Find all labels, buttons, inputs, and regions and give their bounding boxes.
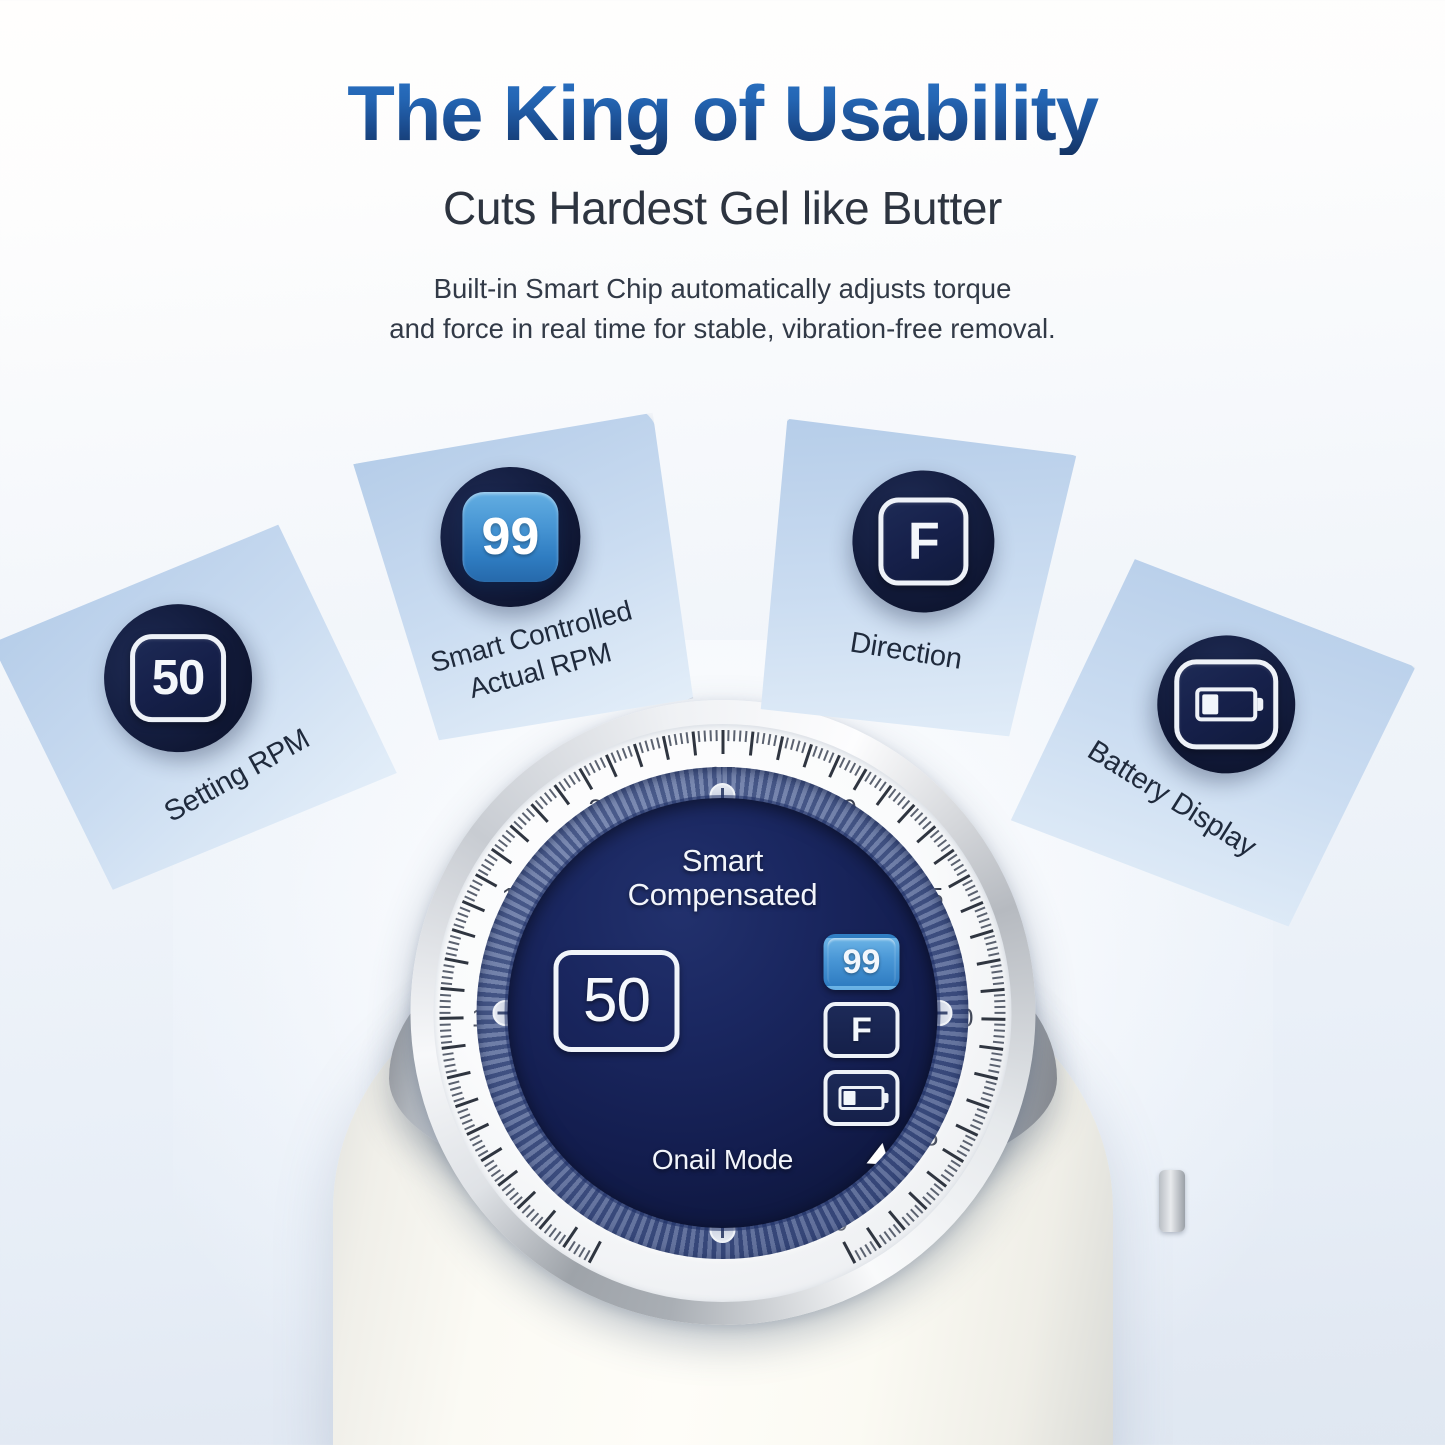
battery-fill-level — [1202, 694, 1218, 714]
dial-direction-value: F — [851, 1013, 872, 1047]
actual-rpm-badge-icon: 99 — [427, 454, 593, 620]
description-line-2: and force in real time for stable, vibra… — [0, 309, 1445, 350]
page-subheadline: Cuts Hardest Gel like Butter — [0, 181, 1445, 235]
dial-actual-rpm-value: 99 — [843, 945, 881, 979]
feature-card-label-direction: Direction — [848, 625, 965, 679]
device-side-button[interactable] — [1159, 1170, 1185, 1232]
dial-setting-rpm-value: 50 — [583, 970, 650, 1032]
description-line-1: Built-in Smart Chip automatically adjust… — [0, 269, 1445, 310]
page-headline: The King of Usability — [0, 72, 1445, 155]
direction-value-glyph: F — [908, 516, 939, 568]
rpm-value-badge: 50 — [130, 634, 226, 722]
dial-direction-badge: F — [824, 1002, 900, 1058]
actual-rpm-value-badge: 99 — [462, 492, 558, 582]
battery-icon — [1195, 687, 1257, 721]
rpm-value-glyph: 50 — [152, 654, 205, 703]
actual-rpm-value-glyph: 99 — [482, 511, 540, 563]
device-bezel: 05101520253035404550 Smart Compensated 5… — [410, 700, 1035, 1325]
dial-battery-badge — [824, 1070, 900, 1126]
direction-badge-icon: F — [842, 460, 1004, 622]
dial-status-stack: 99 F — [824, 934, 900, 1126]
device-chapter-ring: Smart Compensated 50 99 F — [477, 767, 969, 1259]
device-dial-screen[interactable]: Smart Compensated 50 99 F — [508, 798, 938, 1228]
dial-battery-icon — [839, 1086, 885, 1110]
dial-battery-fill-level — [844, 1091, 856, 1105]
dial-setting-rpm-box: 50 — [554, 950, 680, 1052]
dial-actual-rpm-badge: 99 — [824, 934, 900, 990]
dial-title: Smart Compensated — [508, 844, 938, 913]
feature-card-label-actual-rpm: Smart Controlled Actual RPM — [426, 593, 644, 715]
direction-value-badge: F — [878, 498, 968, 586]
page-description: Built-in Smart Chip automatically adjust… — [0, 269, 1445, 350]
battery-value-badge — [1174, 659, 1278, 749]
header-block: The King of Usability Cuts Hardest Gel l… — [0, 72, 1445, 350]
